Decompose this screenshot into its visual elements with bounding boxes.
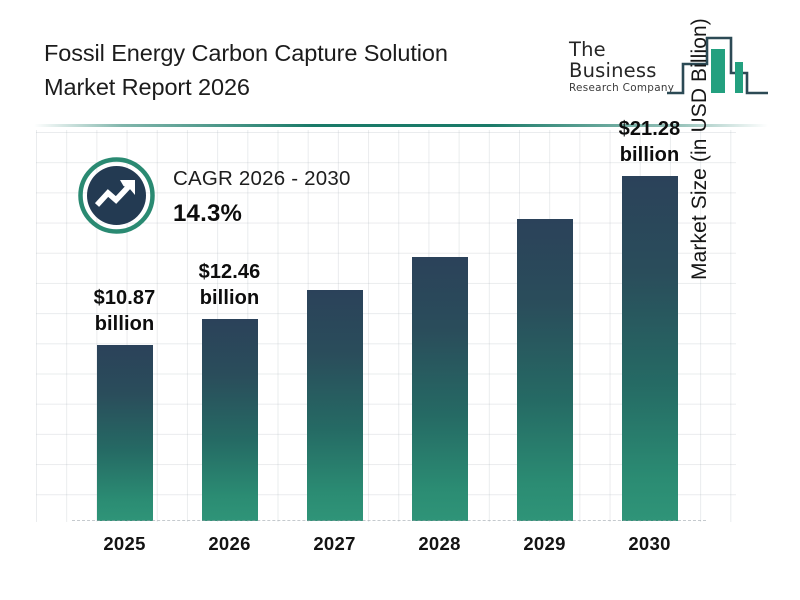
x-tick-2030: 2030 xyxy=(597,533,702,555)
bar-value-label-2026: $12.46 billion xyxy=(199,259,261,311)
bar-slot-2026: $12.46 billion xyxy=(177,140,282,521)
bar-2027[interactable] xyxy=(307,290,363,521)
chart-infographic: Fossil Energy Carbon Capture Solution Ma… xyxy=(0,0,800,600)
bar-2025[interactable] xyxy=(97,345,153,521)
bar-value-label-2030: $21.28 billion xyxy=(619,116,681,168)
y-axis-title: Market Size (in USD Billion) xyxy=(688,0,722,280)
bar-slot-2030: $21.28 billion xyxy=(597,140,702,521)
x-tick-2025: 2025 xyxy=(72,533,177,555)
chart-baseline xyxy=(72,520,706,521)
bar-chart-plot-area: $10.87 billion$12.46 billion$21.28 billi… xyxy=(72,140,702,521)
company-logo: The Business Research Company xyxy=(565,30,770,100)
bar-2030[interactable] xyxy=(622,176,678,521)
page-title: Fossil Energy Carbon Capture Solution Ma… xyxy=(44,36,544,104)
bar-slot-2029 xyxy=(492,140,597,521)
x-tick-2027: 2027 xyxy=(282,533,387,555)
x-tick-2029: 2029 xyxy=(492,533,597,555)
bar-2026[interactable] xyxy=(202,319,258,521)
x-axis-labels: 202520262027202820292030 xyxy=(72,533,702,563)
bar-value-label-2025: $10.87 billion xyxy=(94,285,156,337)
bar-slot-2027 xyxy=(282,140,387,521)
x-tick-2026: 2026 xyxy=(177,533,282,555)
bar-2028[interactable] xyxy=(412,257,468,521)
bar-slot-2028 xyxy=(387,140,492,521)
bar-slot-2025: $10.87 billion xyxy=(72,140,177,521)
bar-2029[interactable] xyxy=(517,219,573,521)
x-tick-2028: 2028 xyxy=(387,533,492,555)
